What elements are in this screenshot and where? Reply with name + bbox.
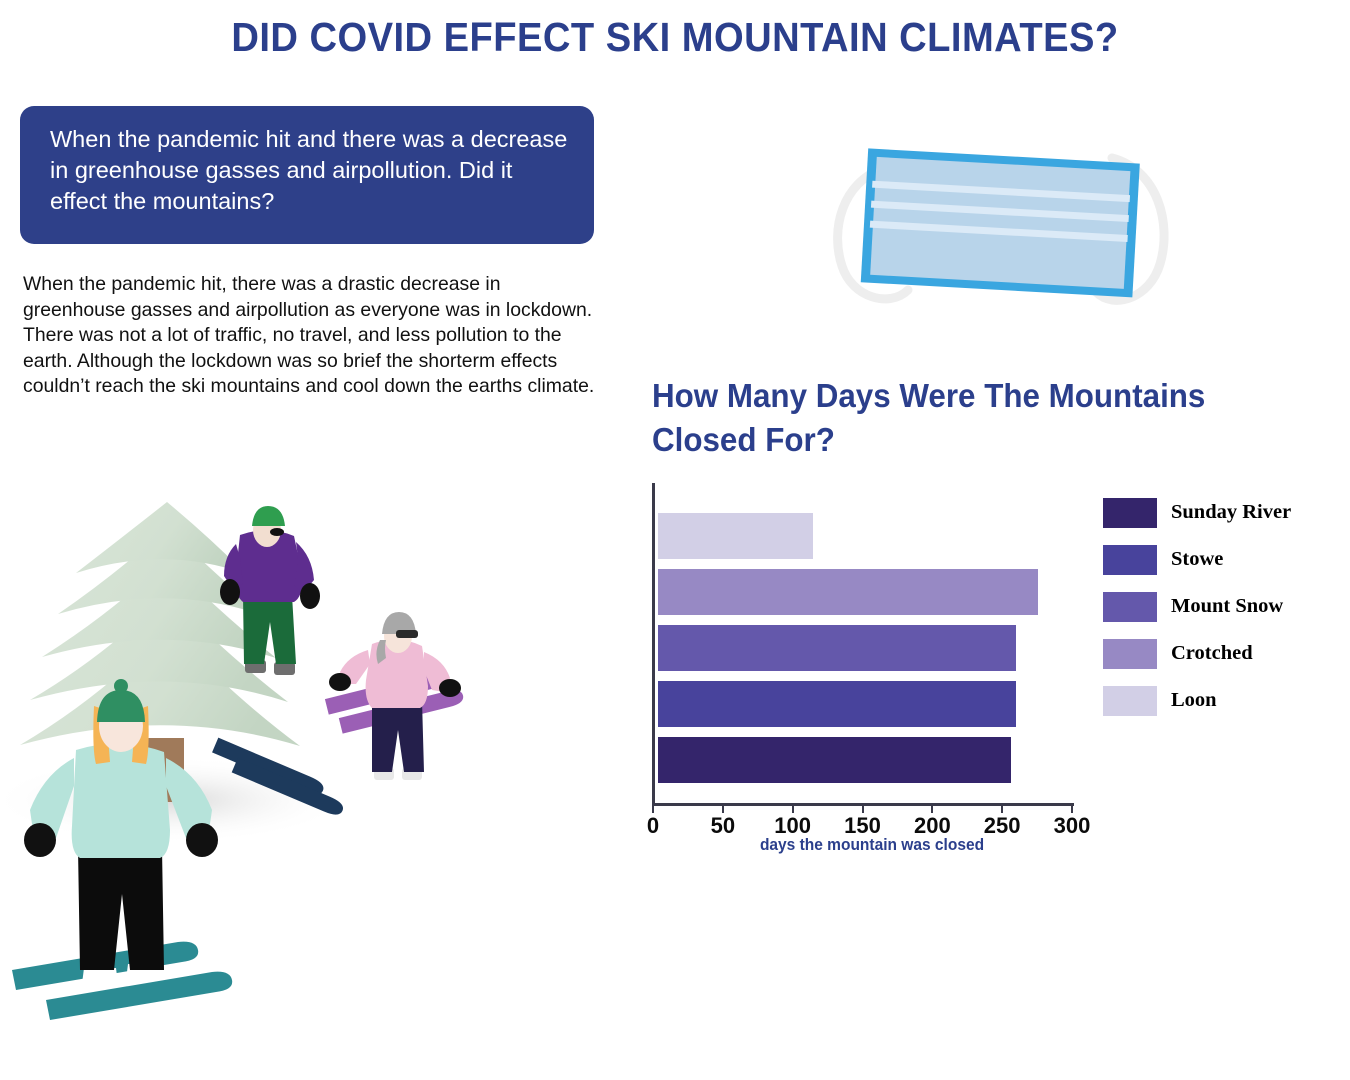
x-tick-0 <box>652 803 654 813</box>
boot-left <box>82 968 118 984</box>
legend-item-mount-snow[interactable]: Mount Snow <box>1103 583 1343 630</box>
beanie-pompom <box>114 679 128 693</box>
legend-swatch-icon <box>1103 592 1157 622</box>
ski-jacket <box>72 743 170 858</box>
chart-legend: Sunday RiverStoweMount SnowCrotchedLoon <box>1103 489 1343 724</box>
intro-paragraph: When the pandemic hit, there was a drast… <box>23 272 603 400</box>
legend-swatch-icon <box>1103 686 1157 716</box>
pandemic-callout-text: When the pandemic hit and there was a de… <box>50 126 567 214</box>
beanie <box>252 506 285 526</box>
pandemic-callout-box: When the pandemic hit and there was a de… <box>20 106 594 244</box>
glove-right <box>439 679 461 697</box>
surgical-mask-icon <box>812 140 1192 320</box>
legend-label: Sunday River <box>1171 501 1291 524</box>
glove-left <box>329 673 351 691</box>
bar-stowe <box>658 681 1016 727</box>
x-tick-250 <box>1001 803 1003 813</box>
mask-body <box>861 148 1140 297</box>
bar-crotched <box>658 569 1038 615</box>
bar-row-crotched <box>658 569 1038 615</box>
bar-loon <box>658 513 813 559</box>
glove-left <box>220 579 240 605</box>
legend-label: Crotched <box>1171 642 1253 665</box>
bar-row-loon <box>658 513 813 559</box>
legend-swatch-icon <box>1103 498 1157 528</box>
skier-pink <box>325 612 465 780</box>
winter-scene-illustration <box>0 500 620 1060</box>
chart-title: How Many Days Were The Mountains Closed … <box>652 374 1298 462</box>
legend-item-sunday-river[interactable]: Sunday River <box>1103 489 1343 536</box>
legend-swatch-icon <box>1103 545 1157 575</box>
x-tick-300 <box>1071 803 1073 813</box>
glove-left <box>24 823 56 857</box>
glove-right <box>300 583 320 609</box>
bar-row-sunday-river <box>658 737 1011 783</box>
legend-item-crotched[interactable]: Crotched <box>1103 630 1343 677</box>
legend-label: Stowe <box>1171 548 1223 571</box>
legend-label: Loon <box>1171 689 1217 712</box>
glove-right <box>186 823 218 857</box>
legend-swatch-icon <box>1103 639 1157 669</box>
page-title: DID COVID EFFECT SKI MOUNTAIN CLIMATES? <box>47 14 1303 61</box>
x-tick-150 <box>862 803 864 813</box>
bar-row-stowe <box>658 681 1016 727</box>
x-tick-100 <box>792 803 794 813</box>
legend-label: Mount Snow <box>1171 595 1283 618</box>
x-tick-200 <box>931 803 933 813</box>
x-tick-50 <box>722 803 724 813</box>
chart-plot-area <box>652 483 1092 803</box>
ski-pants <box>372 700 424 772</box>
bar-sunday-river <box>658 737 1011 783</box>
bar-mount-snow <box>658 625 1016 671</box>
bar-row-mount-snow <box>658 625 1016 671</box>
closed-days-bar-chart: 050100150200250300 <box>652 483 1092 803</box>
goggles <box>396 630 418 638</box>
x-tick-label-0: 0 <box>647 813 659 839</box>
x-axis-label: days the mountain was closed <box>665 836 1079 855</box>
legend-item-loon[interactable]: Loon <box>1103 677 1343 724</box>
surgical-mask-illustration <box>812 140 1192 320</box>
legend-item-stowe[interactable]: Stowe <box>1103 536 1343 583</box>
